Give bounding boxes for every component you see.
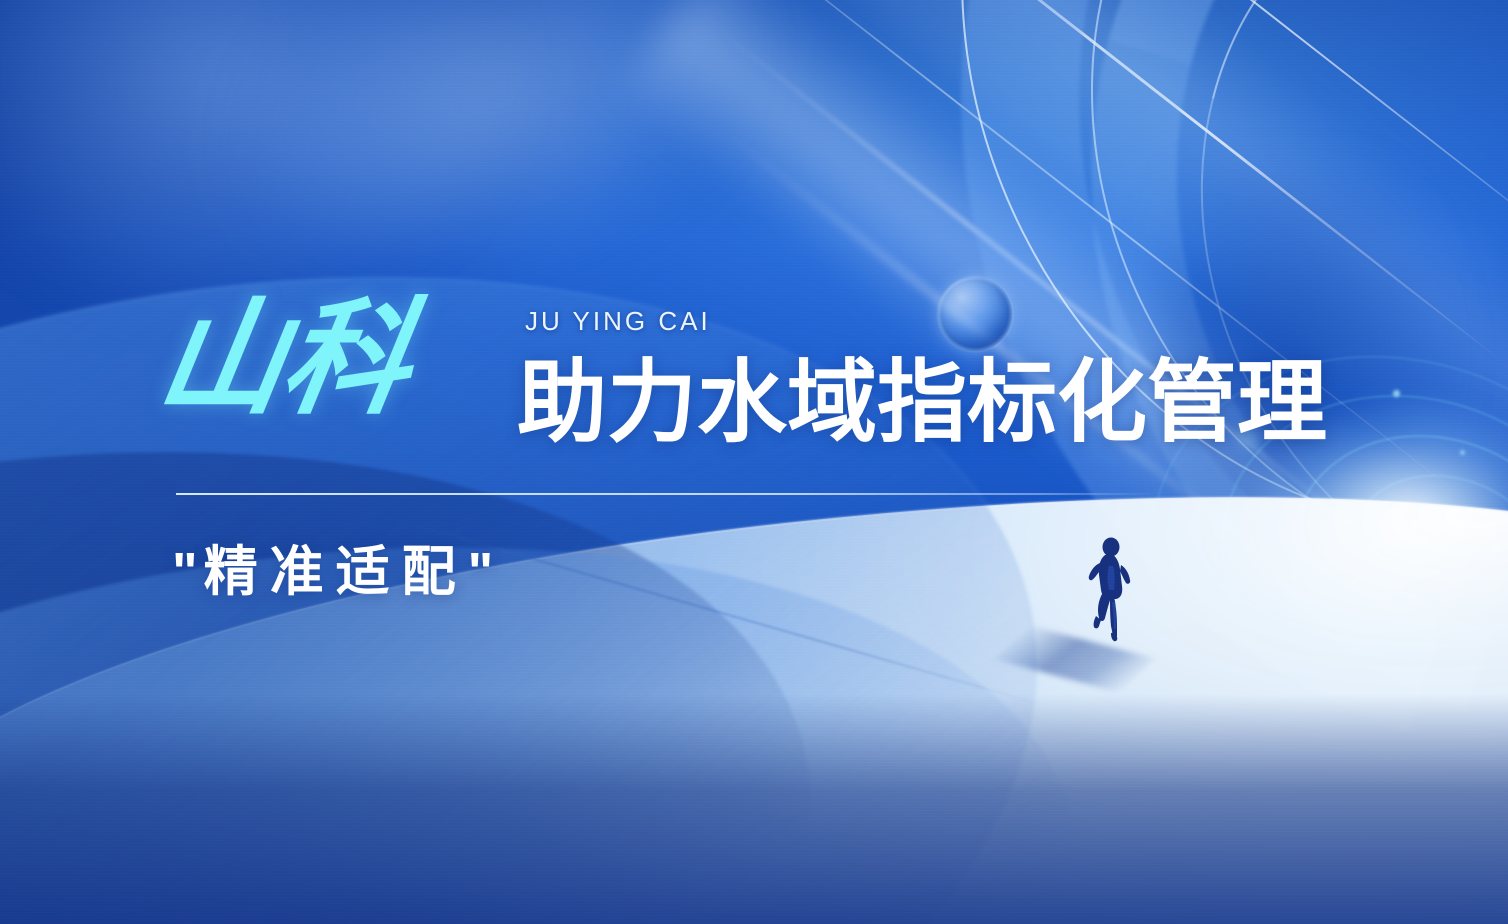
- headline-text: 助力水域指标化管理: [517, 356, 1327, 451]
- brand-lockup: 山科: [160, 296, 408, 422]
- brand-pinyin: JU YING CAI: [525, 306, 711, 337]
- brand-name: 山科: [150, 296, 418, 422]
- tagline-close-quote: ": [468, 542, 500, 602]
- tagline: "精准适配": [172, 541, 499, 603]
- tagline-text: 精准适配: [204, 542, 468, 602]
- promo-banner: 山科 JU YING CAI 助力水域指标化管理 "精准适配": [0, 0, 1508, 924]
- tagline-open-quote: ": [172, 542, 204, 602]
- banner-content: 山科 JU YING CAI 助力水域指标化管理 "精准适配": [0, 0, 1508, 924]
- divider-line: [176, 493, 1158, 495]
